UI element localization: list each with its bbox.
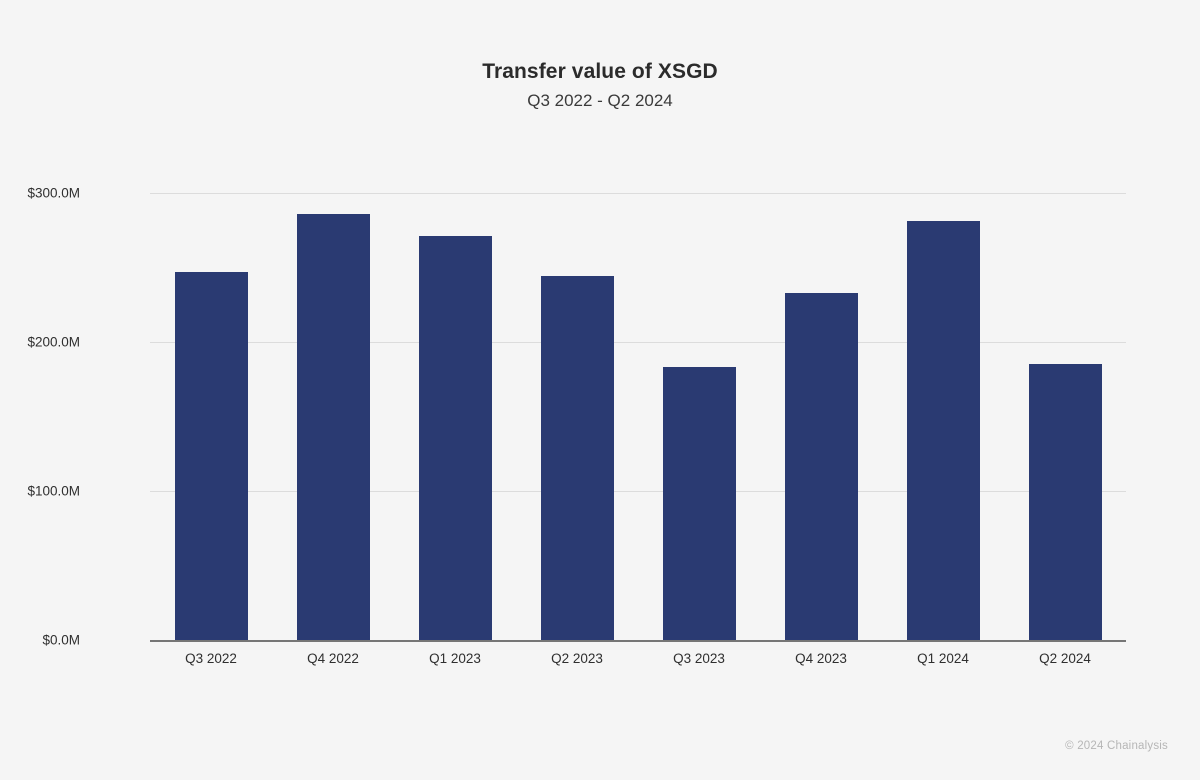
x-axis-tick-label: Q2 2023 [516, 648, 638, 670]
x-axis-tick-label: Q3 2022 [150, 648, 272, 670]
bar[interactable] [419, 236, 492, 640]
chart-title: Transfer value of XSGD [0, 58, 1200, 86]
chart-title-block: Transfer value of XSGD Q3 2022 - Q2 2024 [0, 58, 1200, 114]
x-axis-line [150, 640, 1126, 642]
bar-group[interactable] [419, 193, 492, 640]
bar-group[interactable] [663, 193, 736, 640]
bar[interactable] [785, 293, 858, 640]
y-axis-tick-label: $200.0M [27, 335, 80, 350]
x-axis-tick-label: Q1 2024 [882, 648, 1004, 670]
y-axis-tick-label: $0.0M [42, 633, 80, 648]
bar[interactable] [175, 272, 248, 640]
bar-group[interactable] [541, 193, 614, 640]
x-axis-tick-label: Q3 2023 [638, 648, 760, 670]
bar[interactable] [297, 214, 370, 640]
y-axis-tick-label: $300.0M [27, 186, 80, 201]
y-axis-label-group: $0.0M$100.0M$200.0M$300.0M [0, 0, 140, 780]
bar[interactable] [1029, 364, 1102, 640]
bar[interactable] [907, 221, 980, 640]
x-axis-tick-label: Q4 2022 [272, 648, 394, 670]
bar[interactable] [663, 367, 736, 640]
footer-credit: © 2024 Chainalysis [1065, 740, 1168, 752]
x-axis-label-group: Q3 2022Q4 2022Q1 2023Q2 2023Q3 2023Q4 20… [150, 648, 1126, 678]
x-axis-tick-label: Q2 2024 [1004, 648, 1126, 670]
chart-card: Transfer value of XSGD Q3 2022 - Q2 2024… [0, 0, 1200, 780]
y-axis-tick-label: $100.0M [27, 484, 80, 499]
bar-group[interactable] [785, 193, 858, 640]
bar-group[interactable] [175, 193, 248, 640]
x-axis-tick-label: Q4 2023 [760, 648, 882, 670]
chart-subtitle: Q3 2022 - Q2 2024 [0, 88, 1200, 114]
x-axis-tick-label: Q1 2023 [394, 648, 516, 670]
bar-group[interactable] [1029, 193, 1102, 640]
bar[interactable] [541, 276, 614, 640]
bar-group[interactable] [907, 193, 980, 640]
plot-area [150, 193, 1126, 640]
bar-group[interactable] [297, 193, 370, 640]
